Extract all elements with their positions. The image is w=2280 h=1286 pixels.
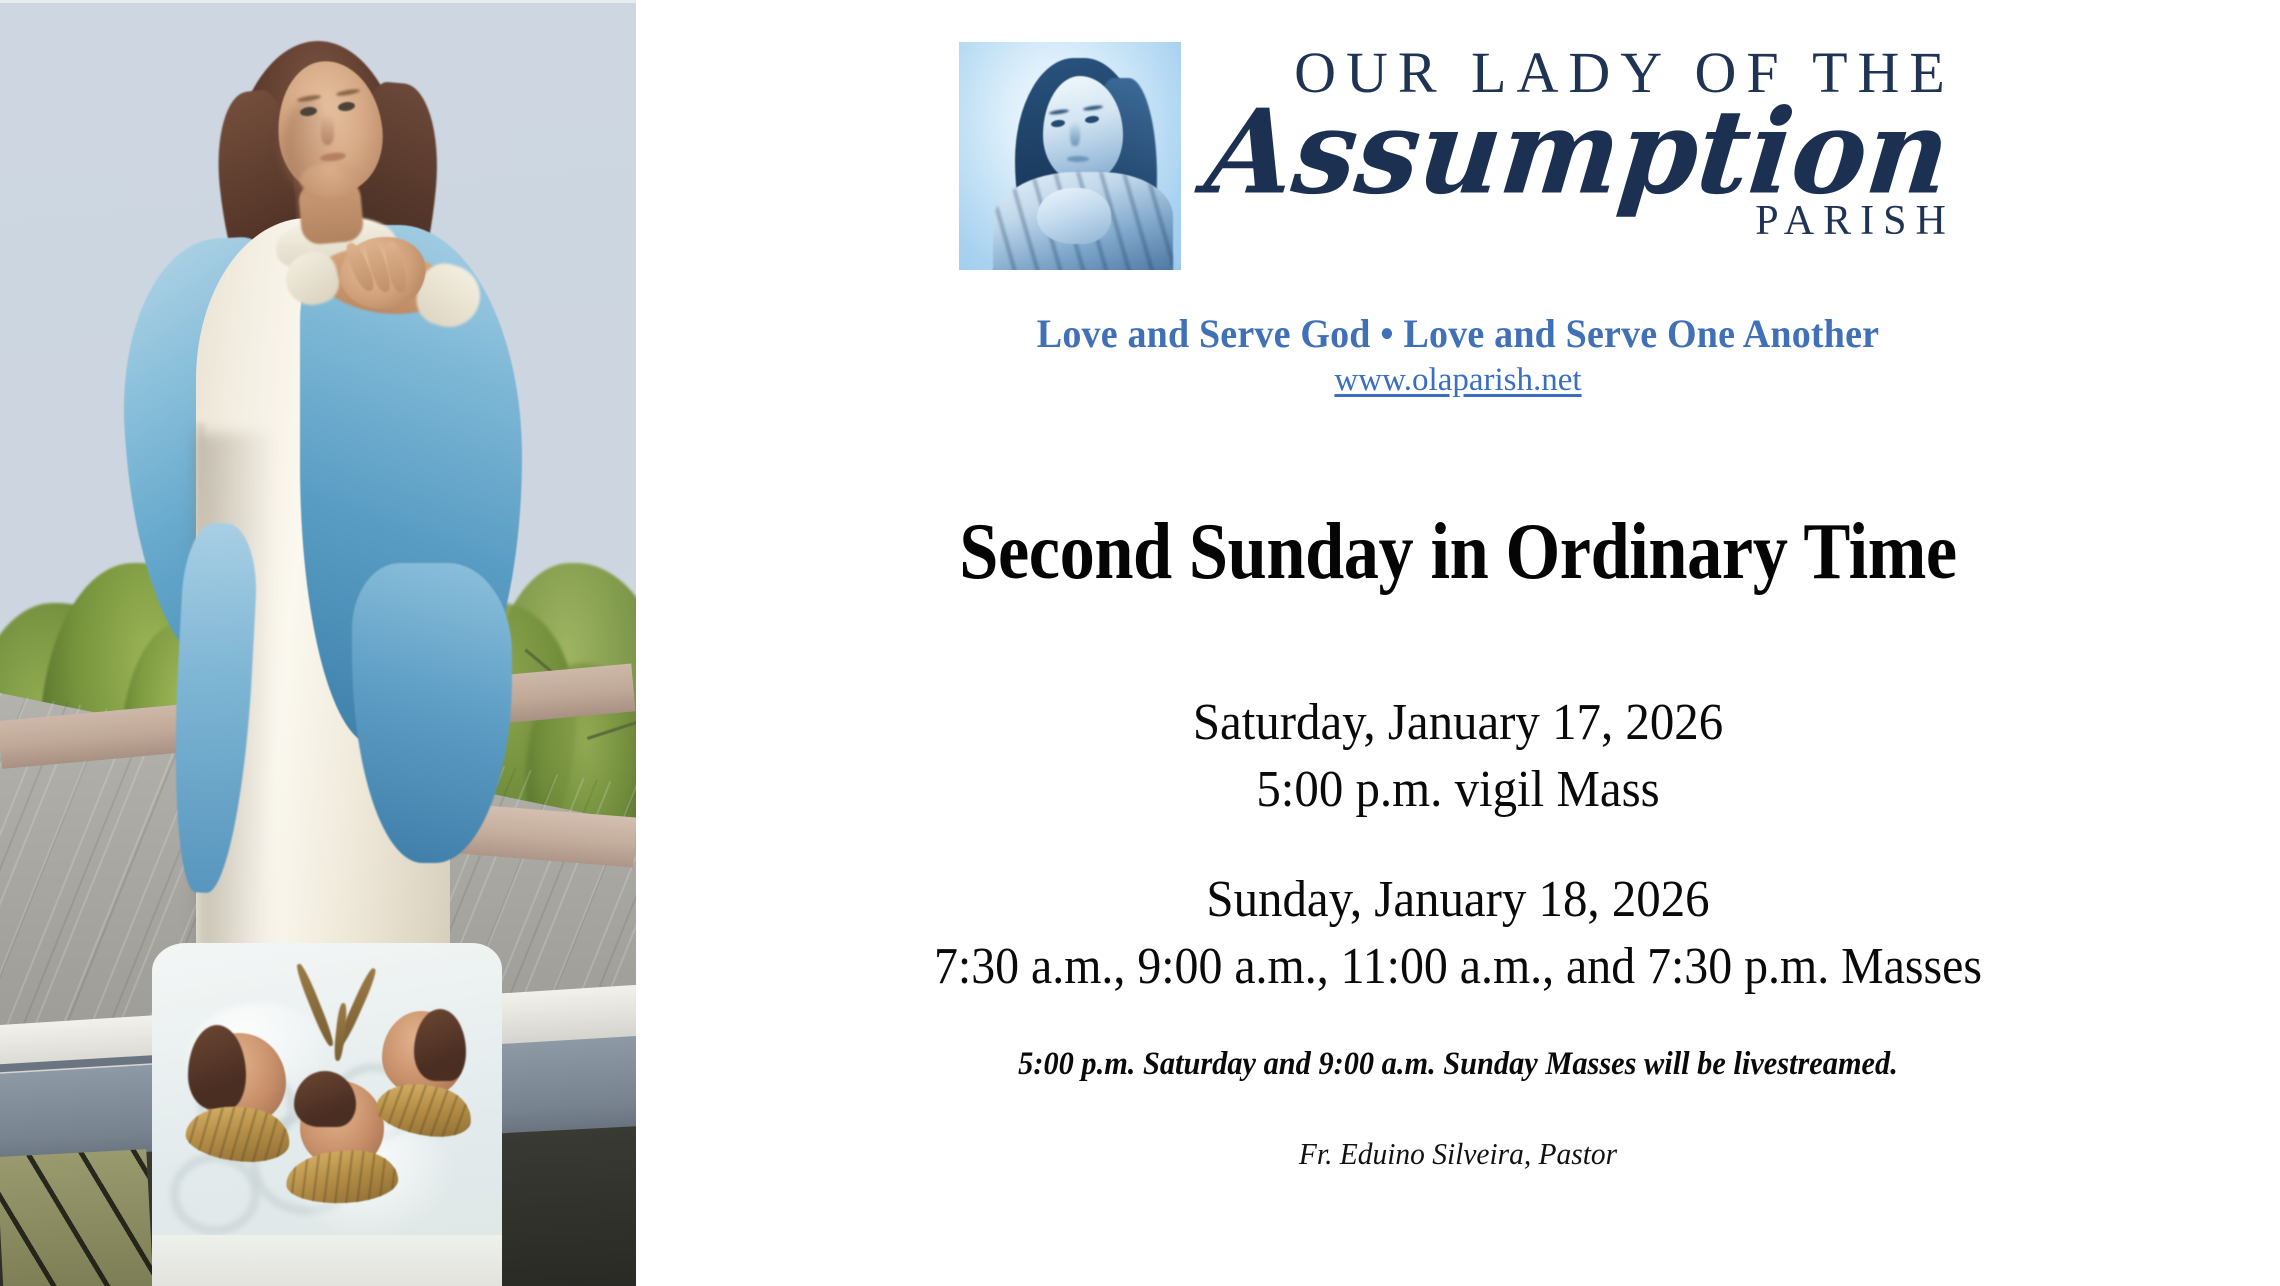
cloud-swirl-3 [170,1153,260,1235]
bulletin-slide: OUR LADY OF THE Assumption PARISH Love a… [0,0,2280,1283]
livestream-note: 5:00 p.m. Saturday and 9:00 a.m. Sunday … [702,1046,2214,1083]
pastor-name: Fr. Eduino Silveira, Pastor [677,1136,2239,1172]
logo-line-assumption: Assumption [1201,94,1955,213]
page-title: Second Sunday in Ordinary Time [735,510,2182,594]
mass-date-sunday: Sunday, January 18, 2026 [685,867,2230,934]
parish-tagline: Love and Serve God • Love and Serve One … [677,310,2239,357]
statue-figure [0,3,636,1286]
mass-schedule: Saturday, January 17, 2026 5:00 p.m. vig… [636,690,2280,1000]
parish-website-link[interactable]: www.olaparish.net [1334,362,1581,398]
logo-statue-mouth [1067,156,1089,162]
statue-nose [321,115,334,145]
parish-logo: OUR LADY OF THE Assumption PARISH [636,42,2280,270]
bulletin-content-panel: OUR LADY OF THE Assumption PARISH Love a… [636,0,2280,1283]
logo-statue-nose [1070,122,1080,146]
logo-statue-hands [1037,188,1111,244]
cloud-base-block [152,1235,502,1286]
mass-date-saturday: Saturday, January 17, 2026 [685,690,2230,757]
statue-chin [300,163,360,197]
statue-mantle-folds [140,263,520,873]
parish-website-link-wrap: www.olaparish.net [636,362,2280,399]
mass-times-saturday: 5:00 p.m. vigil Mass [685,757,2230,824]
mary-statue-photo [0,0,636,1286]
mass-times-sunday: 7:30 a.m., 9:00 a.m., 11:00 a.m., and 7:… [702,934,2214,1001]
schedule-spacer [636,823,2280,867]
parish-logo-wordmark: OUR LADY OF THE Assumption PARISH [1207,42,1957,242]
parish-logo-image [959,42,1181,270]
